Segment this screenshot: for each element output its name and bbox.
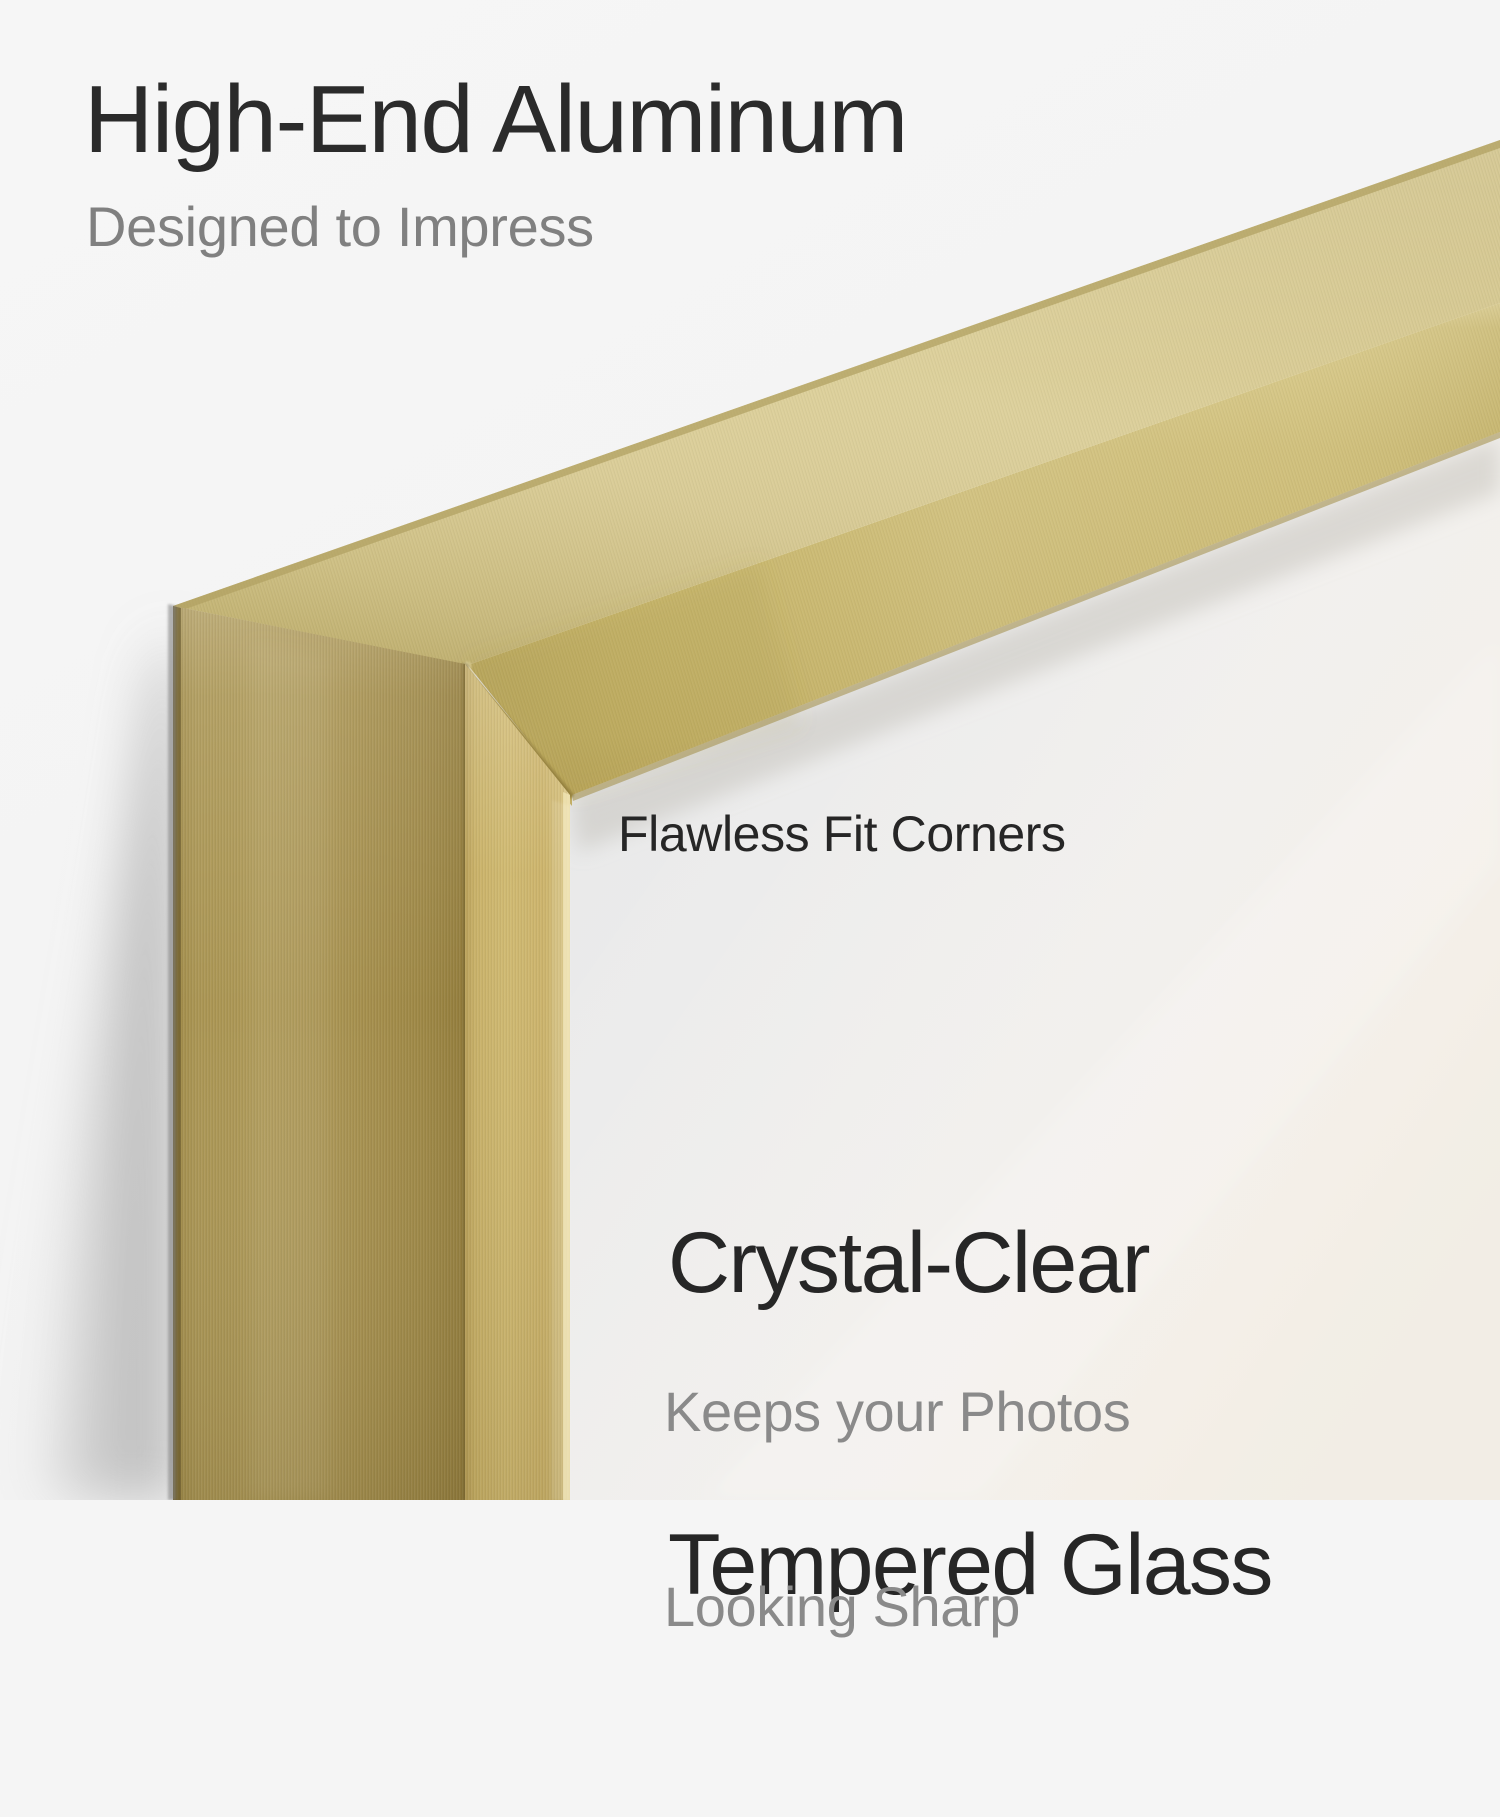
page-subtitle: Designed to Impress [86,198,594,257]
frame-left-stile [168,604,570,1500]
corner-feature-callout: Flawless Fit Corners [618,808,1066,861]
product-feature-image: High-End Aluminum Designed to Impress Fl… [0,0,1500,1500]
glass-feature-subtext: Keeps your Photos Looking Sharp [664,1250,1130,1770]
glass-feature-subtext-line1: Keeps your Photos [664,1380,1130,1445]
glass-feature-subtext-line2: Looking Sharp [664,1575,1130,1640]
page-title: High-End Aluminum [84,70,907,171]
